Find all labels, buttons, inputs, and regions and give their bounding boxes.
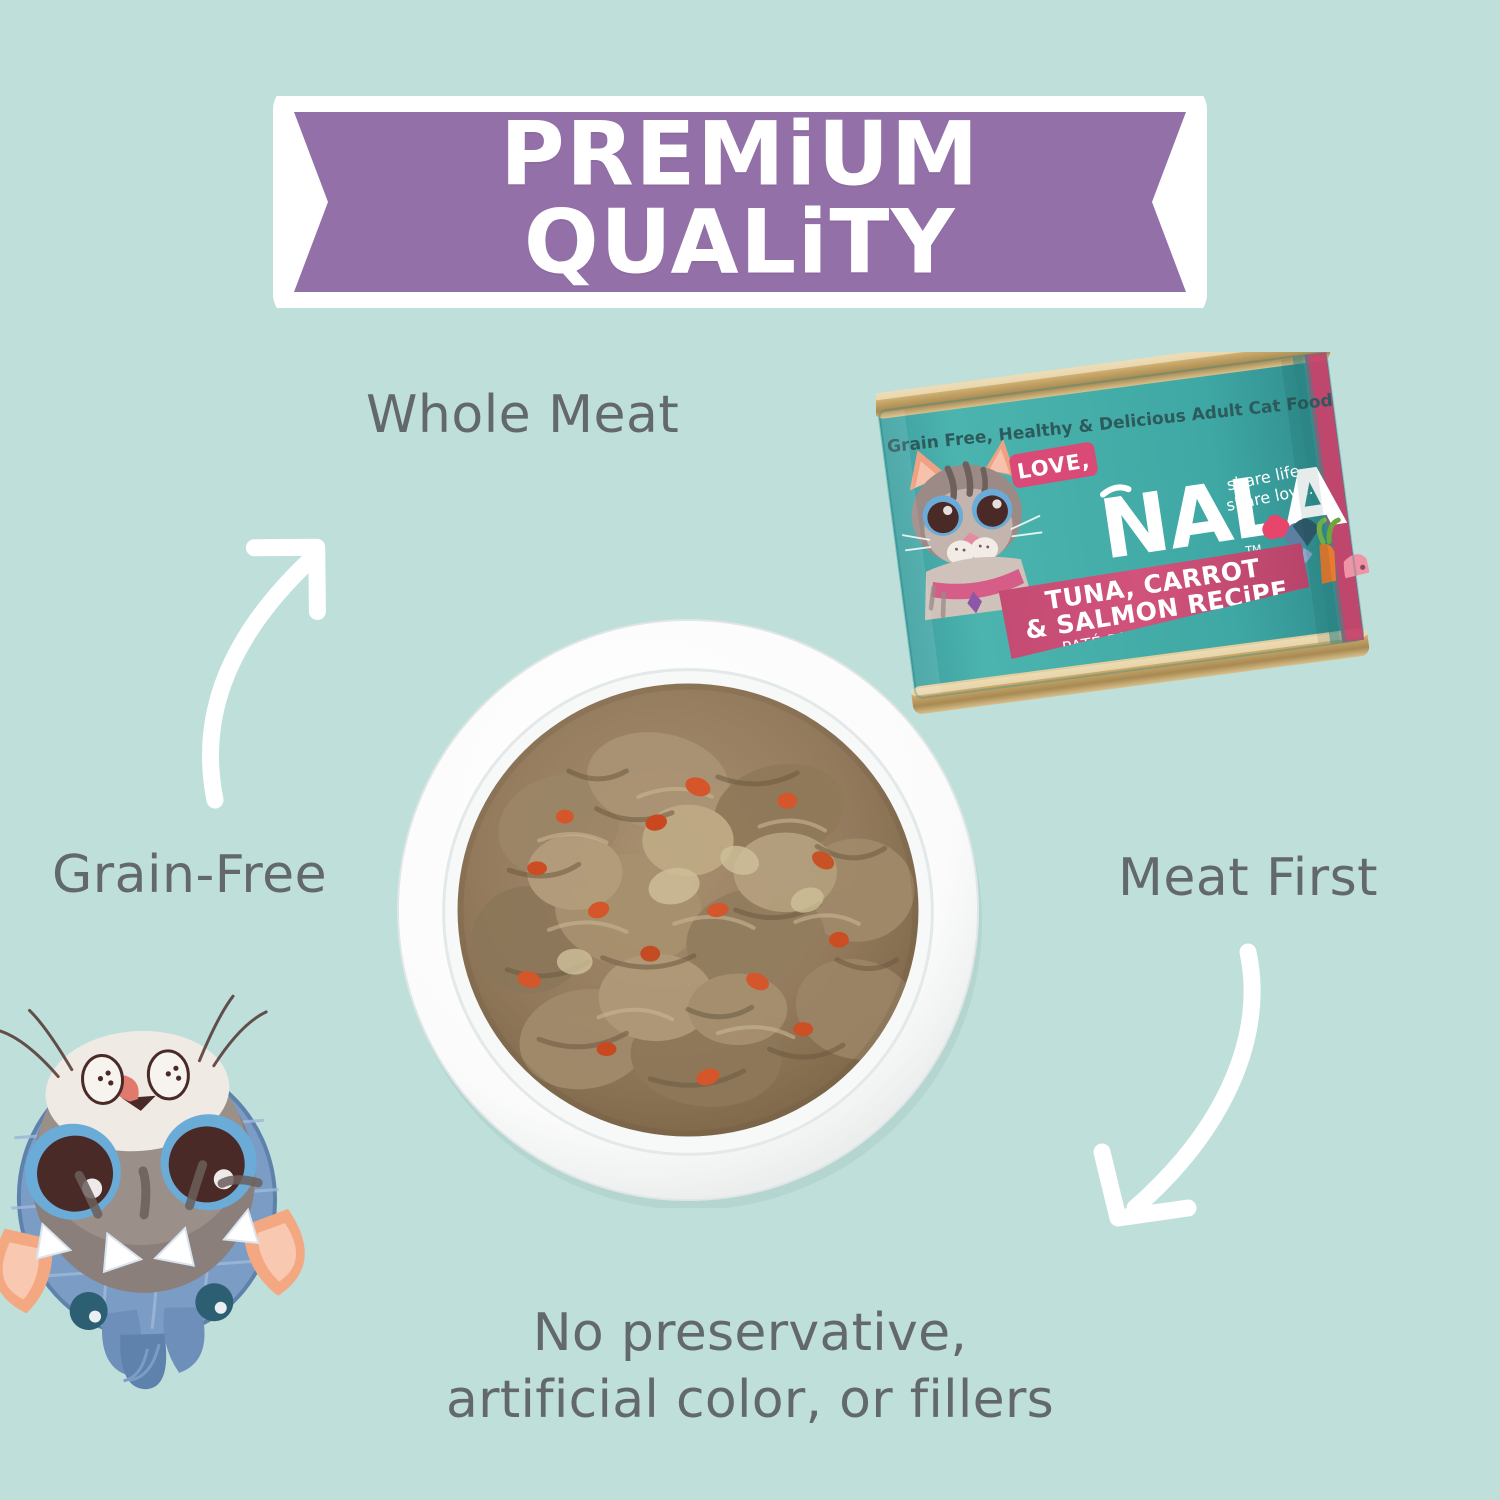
nala-shark-costume-cat: [0, 985, 318, 1415]
feature-label-grain-free: Grain-Free: [52, 845, 327, 905]
feature-label-meat-first: Meat First: [1118, 848, 1378, 908]
arrow-down-left-icon: [1040, 930, 1310, 1250]
banner-shape: [272, 96, 1208, 308]
premium-quality-banner: PREMiUM QUALiTY: [272, 96, 1208, 308]
product-feature-graphic: PREMiUM QUALiTY Whole Meat Grain-Free Me…: [0, 0, 1500, 1500]
cat-food-can: Grain Free, Healthy & Delicious Adult Ca…: [876, 352, 1376, 742]
feature-label-whole-meat: Whole Meat: [366, 385, 679, 445]
arrow-up-right-icon: [160, 500, 420, 810]
